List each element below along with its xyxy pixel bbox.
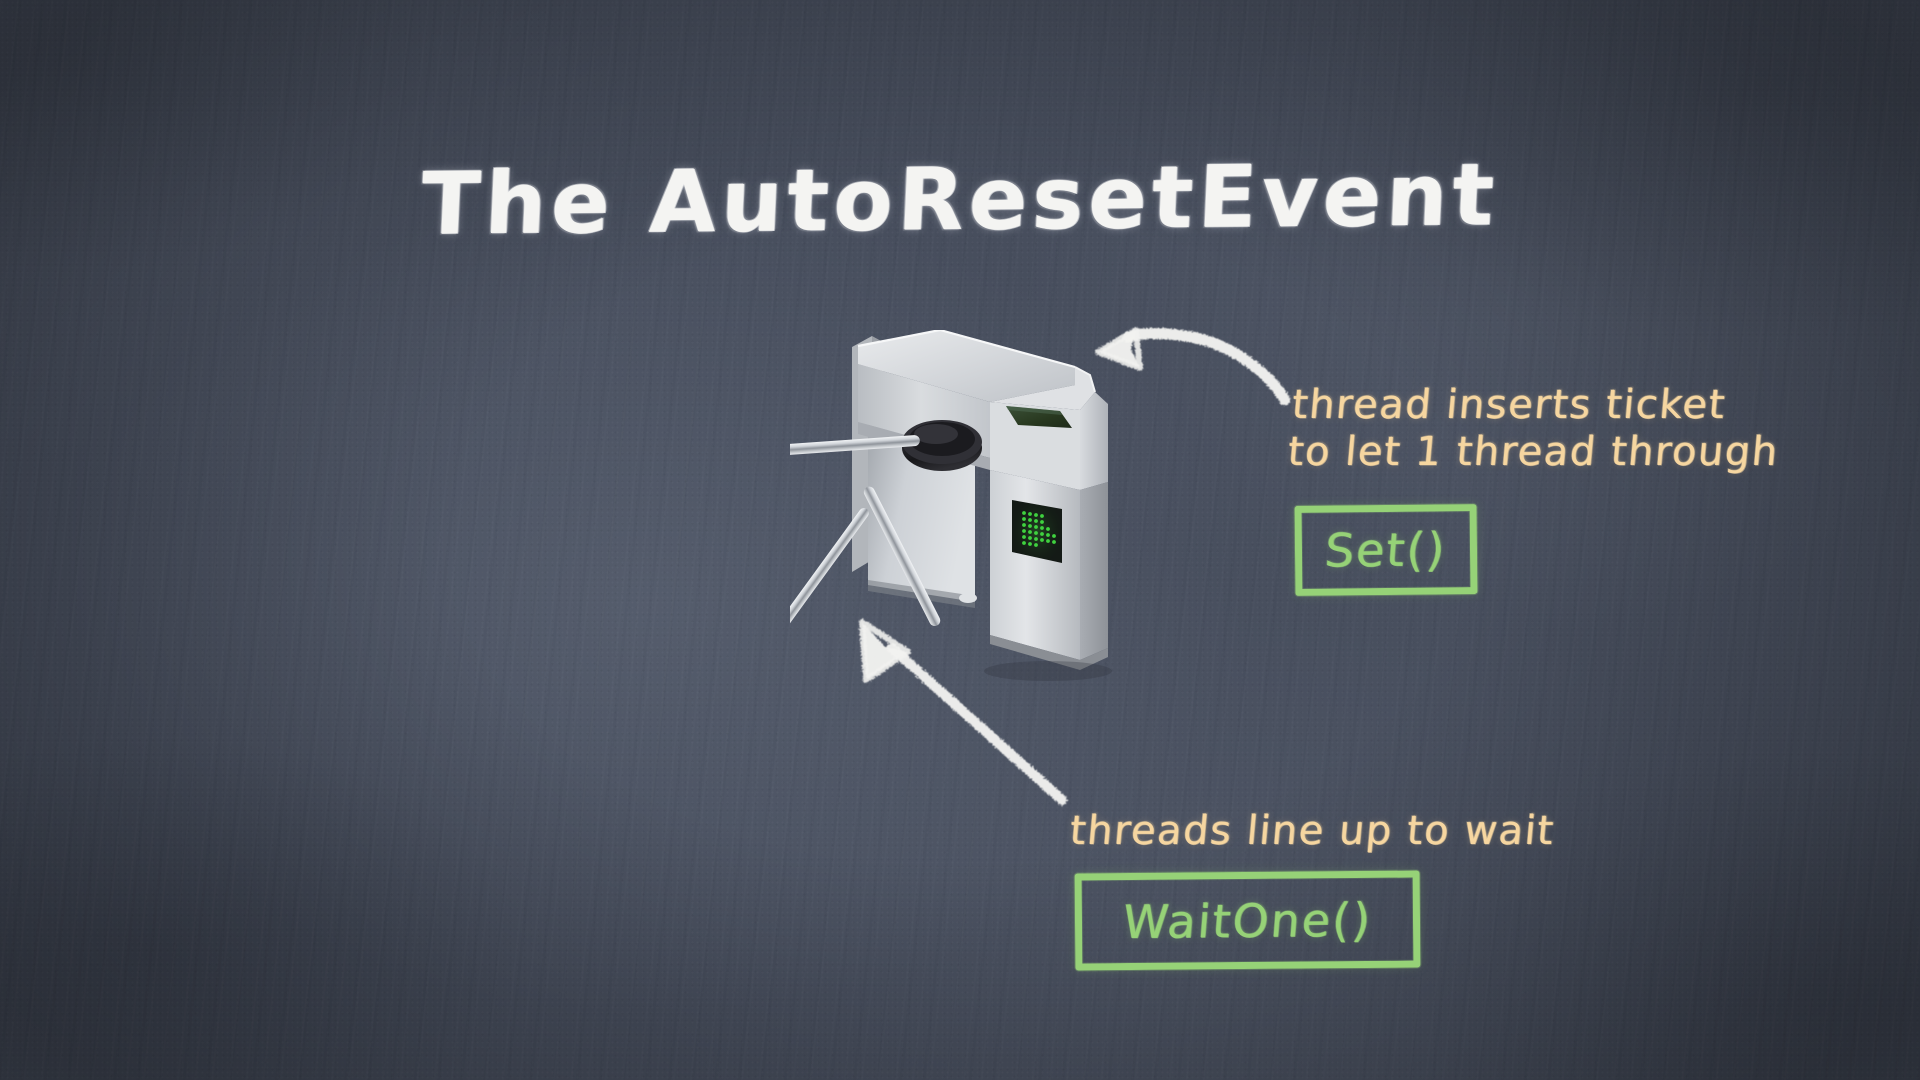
annotation-threads-line-up: threads line up to wait xyxy=(1068,808,1557,855)
annotation-thread-inserts-ticket: thread inserts ticket to let 1 thread th… xyxy=(1286,382,1785,476)
annotation-top-line-1: thread inserts ticket xyxy=(1290,382,1785,429)
page-title: The AutoResetEvent xyxy=(0,142,1920,259)
turnstile-column xyxy=(990,470,1108,670)
chalkboard-canvas: The AutoResetEvent xyxy=(0,0,1920,1080)
turnstile-arm-down-left xyxy=(790,506,871,641)
turnstile-illustration xyxy=(790,330,1160,730)
annotation-bottom-line-1: threads line up to wait xyxy=(1068,808,1556,854)
led-arrow-indicator xyxy=(1012,500,1062,563)
code-box-waitone[interactable]: WaitOne() xyxy=(1075,870,1421,970)
annotation-top-line-2: to let 1 thread through xyxy=(1286,429,1781,476)
code-box-set[interactable]: Set() xyxy=(1295,504,1478,596)
turnstile-svg xyxy=(790,330,1160,730)
code-box-waitone-label: WaitOne() xyxy=(1121,892,1374,948)
code-box-set-label: Set() xyxy=(1323,522,1449,577)
